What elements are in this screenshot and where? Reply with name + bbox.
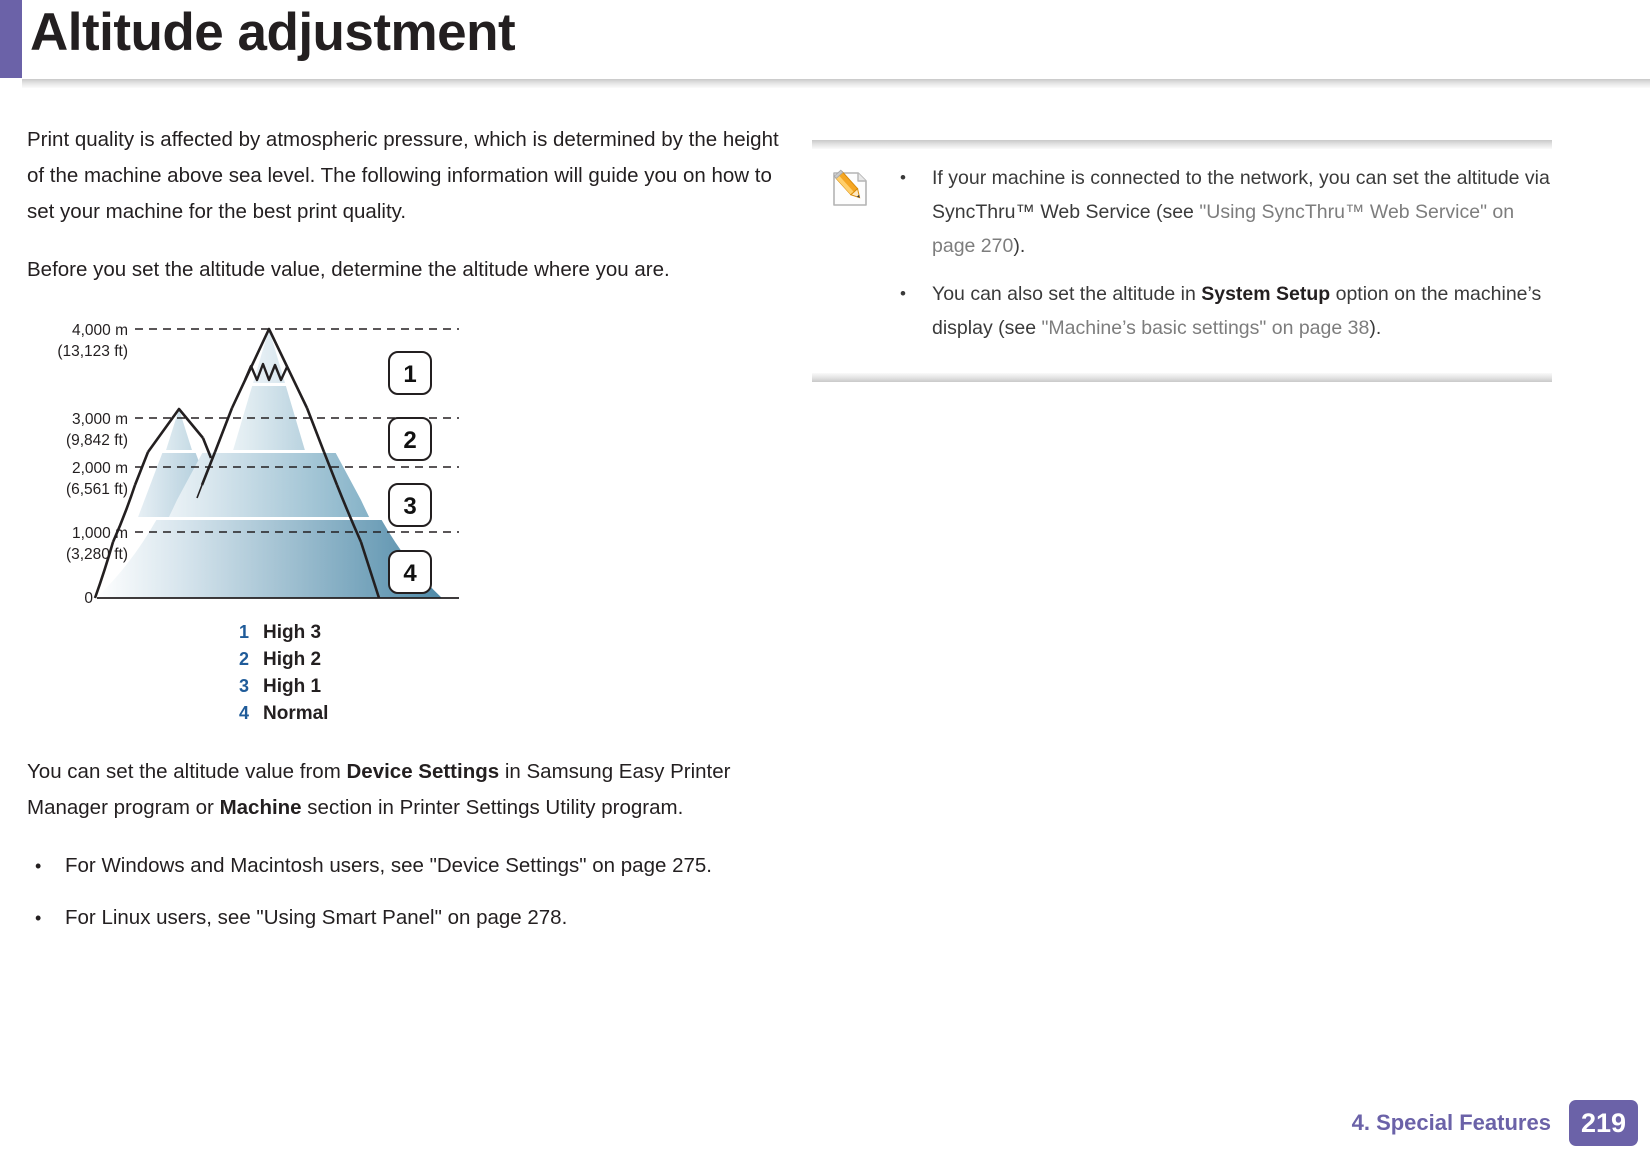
axis-label-2000-ft: (6,561 ft) — [66, 481, 128, 498]
axis-label-3000-m: 3,000 m — [72, 411, 128, 428]
legend-item-4-number: 4 — [239, 703, 263, 724]
header-accent-bar — [0, 0, 22, 78]
axis-label-2000: 2,000 m (6,561 ft) — [66, 460, 128, 498]
note-bullet-2: • You can also set the altitude in Syste… — [900, 277, 1552, 345]
left-bullet-2: • For Linux users, see "Using Smart Pane… — [27, 900, 787, 936]
note-b2-bold: System Setup — [1201, 283, 1330, 305]
note-b2-reference: "Machine’s basic settings" on page 38 — [1041, 317, 1369, 339]
legend-item-4: 4 Normal — [239, 703, 787, 730]
bullet-dot-icon: • — [27, 848, 65, 884]
badge-1-label: 1 — [403, 361, 416, 388]
legend-item-3-number: 3 — [239, 676, 263, 697]
badge-2: 2 — [389, 418, 431, 460]
note-bullet-1-text: If your machine is connected to the netw… — [932, 161, 1552, 263]
left-bullet-2-text: For Linux users, see "Using Smart Panel"… — [65, 900, 787, 936]
ds-text-b-bold: Device Settings — [346, 760, 499, 783]
note-b2-part1: You can also set the altitude in — [932, 283, 1201, 305]
axis-label-4000: 4,000 m (13,123 ft) — [57, 322, 128, 360]
axis-label-4000-ft: (13,123 ft) — [57, 343, 128, 360]
altitude-diagram: 4,000 m (13,123 ft) 3,000 m (9,842 ft) 2… — [27, 310, 467, 610]
badge-2-label: 2 — [403, 427, 416, 454]
bullet-dot-icon: • — [900, 161, 932, 263]
footer-page-number: 219 — [1569, 1100, 1638, 1146]
badge-4-label: 4 — [403, 560, 417, 587]
legend-item-2-number: 2 — [239, 649, 263, 670]
legend-item-2-label: High 2 — [263, 649, 321, 671]
left-bullet-1-text: For Windows and Macintosh users, see "De… — [65, 848, 787, 884]
note-b1-part3: ). — [1013, 235, 1025, 257]
page-title: Altitude adjustment — [30, 2, 515, 63]
diagram-legend: 1 High 3 2 High 2 3 High 1 4 Normal — [239, 622, 787, 730]
legend-item-1: 1 High 3 — [239, 622, 787, 649]
ds-text-a: You can set the altitude value from — [27, 760, 346, 783]
bullet-dot-icon: • — [27, 900, 65, 936]
left-bullet-1: • For Windows and Macintosh users, see "… — [27, 848, 787, 884]
intro-paragraph: Print quality is affected by atmospheric… — [27, 122, 787, 230]
axis-label-4000-m: 4,000 m — [72, 322, 128, 339]
legend-item-2: 2 High 2 — [239, 649, 787, 676]
axis-label-1000-m: 1,000 m — [72, 525, 128, 542]
page-header: Altitude adjustment — [0, 0, 1650, 92]
left-column: Print quality is affected by atmospheric… — [27, 122, 787, 952]
right-column: • If your machine is connected to the ne… — [812, 140, 1552, 382]
note-pencil-icon — [828, 167, 872, 211]
legend-item-1-label: High 3 — [263, 622, 321, 644]
axis-label-1000: 1,000 m (3,280 ft) — [66, 525, 128, 563]
legend-item-1-number: 1 — [239, 622, 263, 643]
badge-1: 1 — [389, 352, 431, 394]
note-bullet-1: • If your machine is connected to the ne… — [900, 161, 1552, 263]
badge-4: 4 — [389, 551, 431, 593]
legend-item-3: 3 High 1 — [239, 676, 787, 703]
note-top-divider — [812, 140, 1552, 149]
legend-item-3-label: High 1 — [263, 676, 321, 698]
ds-text-e: section in Printer Settings Utility prog… — [302, 796, 684, 819]
axis-label-zero: 0 — [84, 590, 93, 607]
ds-text-d-bold: Machine — [220, 796, 302, 819]
axis-label-1000-ft: (3,280 ft) — [66, 546, 128, 563]
note-bottom-divider — [812, 373, 1552, 382]
badge-3-label: 3 — [403, 493, 416, 520]
device-settings-paragraph: You can set the altitude value from Devi… — [27, 754, 787, 826]
header-divider — [22, 79, 1650, 88]
page-footer: 4. Special Features 219 — [0, 1088, 1650, 1158]
before-you-set-paragraph: Before you set the altitude value, deter… — [27, 252, 787, 288]
note-callout-box: • If your machine is connected to the ne… — [812, 140, 1552, 382]
footer-section-label: 4. Special Features — [1352, 1100, 1569, 1146]
bullet-dot-icon: • — [900, 277, 932, 345]
axis-label-3000: 3,000 m (9,842 ft) — [66, 411, 128, 449]
legend-item-4-label: Normal — [263, 703, 328, 725]
axis-label-2000-m: 2,000 m — [72, 460, 128, 477]
note-bullet-2-text: You can also set the altitude in System … — [932, 277, 1552, 345]
badge-3: 3 — [389, 484, 431, 526]
axis-label-3000-ft: (9,842 ft) — [66, 432, 128, 449]
note-b2-part5: ). — [1369, 317, 1381, 339]
